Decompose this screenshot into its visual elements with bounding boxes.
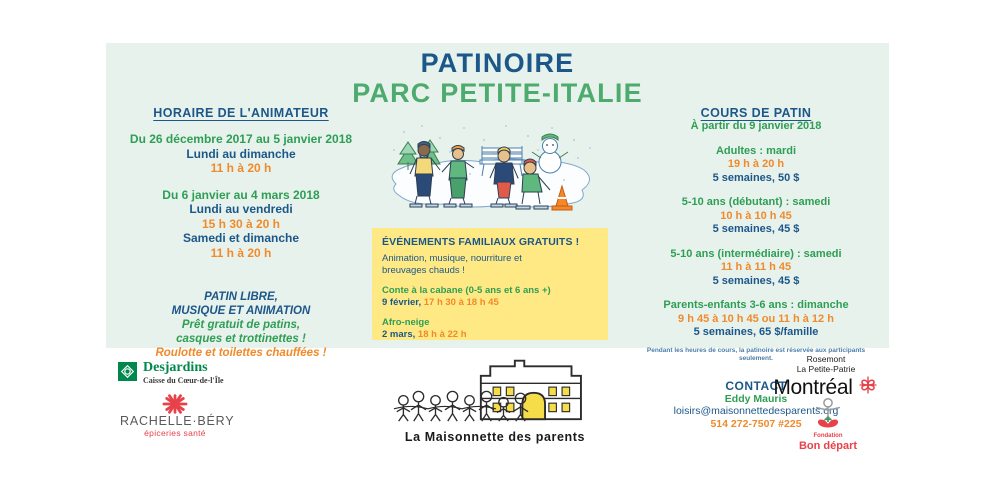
montreal-borough-line-2: La Petite-Patrie xyxy=(756,365,896,375)
event-date: 9 février, xyxy=(382,297,421,308)
schedule-period-1: Du 26 décembre 2017 au 5 janvier 2018 Lu… xyxy=(116,132,366,176)
family-events-box: ÉVÉNEMENTS FAMILIAUX GRATUITS ! Animatio… xyxy=(372,228,608,340)
course-group: 5-10 ans (débutant) : samedi xyxy=(630,196,882,210)
events-body: Animation, musique, nourriture et breuva… xyxy=(382,253,598,276)
logo-montreal: Rosemont La Petite-Patrie Montréal xyxy=(756,355,896,401)
rachelle-bery-flower-icon xyxy=(120,392,230,414)
course-time: 19 h à 20 h xyxy=(630,158,882,172)
title-line-parc: PARC PETITE-ITALIE xyxy=(106,78,889,109)
course-group: 5-10 ans (intermédiaire) : samedi xyxy=(630,248,882,262)
event-item: Afro-neige 2 mars, 18 h à 22 h xyxy=(382,317,598,340)
poster-canvas: PATINOIRE PARC PETITE-ITALIE HORAIRE DE … xyxy=(0,0,990,495)
desjardins-sub: Caisse du Cœur-de-l'Île xyxy=(143,376,224,385)
desjardins-mark-icon xyxy=(118,362,137,381)
period2-hours-weekend: 11 h à 20 h xyxy=(116,246,366,261)
courses-heading: COURS DE PATIN xyxy=(630,106,882,120)
course-item: 5-10 ans (intermédiaire) : samedi 11 h à… xyxy=(630,248,882,289)
free-skate-line-3: Prêt gratuit de patins, xyxy=(116,318,366,332)
course-group: Adultes : mardi xyxy=(630,145,882,159)
course-time: 10 h à 10 h 45 xyxy=(630,210,882,224)
course-price: 5 semaines, 65 $/famille xyxy=(630,326,882,340)
course-item: 5-10 ans (débutant) : samedi 10 h à 10 h… xyxy=(630,196,882,237)
course-group: Parents-enfants 3-6 ans : dimanche xyxy=(630,299,882,313)
bon-depart-figure-icon xyxy=(778,396,878,433)
period1-days: Lundi au dimanche xyxy=(116,147,366,162)
event-label: Afro-neige xyxy=(382,317,598,329)
events-title: ÉVÉNEMENTS FAMILIAUX GRATUITS ! xyxy=(382,236,598,249)
event-item: Conte à la cabane (0-5 ans et 6 ans +) 9… xyxy=(382,285,598,308)
rachelle-bery-name: RACHELLE·BÉRY xyxy=(120,414,230,428)
free-skate-line-1: PATIN LIBRE, xyxy=(116,290,366,304)
period2-days-weekend: Samedi et dimanche xyxy=(116,231,366,246)
events-body-line-2: breuvages chauds ! xyxy=(382,265,598,277)
desjardins-name: Desjardins xyxy=(143,360,208,375)
logo-fondation-bon-depart: Fondation Bon départ xyxy=(778,396,878,452)
period1-hours: 11 h à 20 h xyxy=(116,161,366,176)
event-time: 17 h 30 à 18 h 45 xyxy=(424,297,499,308)
maisonnette-caption: La Maisonnette des parents xyxy=(380,430,610,444)
course-price: 5 semaines, 45 $ xyxy=(630,275,882,289)
free-skate-block: PATIN LIBRE, MUSIQUE ET ANIMATION Prêt g… xyxy=(116,290,366,360)
period2-hours-weekday: 15 h 30 à 20 h xyxy=(116,217,366,232)
event-label: Conte à la cabane (0-5 ans et 6 ans +) xyxy=(382,285,598,297)
schedule-heading: HORAIRE DE L'ANIMATEUR xyxy=(116,106,366,120)
logo-desjardins: Desjardins Caisse du Cœur-de-l'Île xyxy=(118,358,224,385)
schedule-period-2: Du 6 janvier au 4 mars 2018 Lundi au ven… xyxy=(116,188,366,261)
desjardins-text: Desjardins Caisse du Cœur-de-l'Île xyxy=(143,358,224,385)
rachelle-bery-sub: épiceries santé xyxy=(120,428,230,438)
course-time: 11 h à 11 h 45 xyxy=(630,261,882,275)
free-skate-line-4: casques et trottinettes ! xyxy=(116,332,366,346)
period2-dates: Du 6 janvier au 4 mars 2018 xyxy=(116,188,366,203)
period1-dates: Du 26 décembre 2017 au 5 janvier 2018 xyxy=(116,132,366,147)
event-date: 2 mars, xyxy=(382,329,415,340)
courses-subheading: À partir du 9 janvier 2018 xyxy=(630,120,882,134)
free-skate-line-2: MUSIQUE ET ANIMATION xyxy=(116,304,366,318)
poster-title: PATINOIRE PARC PETITE-ITALIE xyxy=(106,48,889,109)
logo-maisonnette-des-parents: La Maisonnette des parents xyxy=(380,355,610,444)
course-price: 5 semaines, 50 $ xyxy=(630,172,882,186)
bon-depart-line-1: Fondation xyxy=(778,433,878,440)
bon-depart-line-2: Bon départ xyxy=(778,440,878,452)
event-time: 18 h à 22 h xyxy=(418,329,467,340)
ice-skating-illustration xyxy=(378,118,608,226)
title-line-patinoire: PATINOIRE xyxy=(106,48,889,78)
period2-days-weekday: Lundi au vendredi xyxy=(116,202,366,217)
course-time: 9 h 45 à 10 h 45 ou 11 h à 12 h xyxy=(630,313,882,327)
logo-rachelle-bery: RACHELLE·BÉRY épiceries santé xyxy=(120,392,230,438)
course-price: 5 semaines, 45 $ xyxy=(630,223,882,237)
course-item: Parents-enfants 3-6 ans : dimanche 9 h 4… xyxy=(630,299,882,340)
events-body-line-1: Animation, musique, nourriture et xyxy=(382,253,598,265)
course-item: Adultes : mardi 19 h à 20 h 5 semaines, … xyxy=(630,145,882,186)
maisonnette-house-icon xyxy=(380,355,610,428)
schedule-column: HORAIRE DE L'ANIMATEUR Du 26 décembre 20… xyxy=(116,106,366,360)
